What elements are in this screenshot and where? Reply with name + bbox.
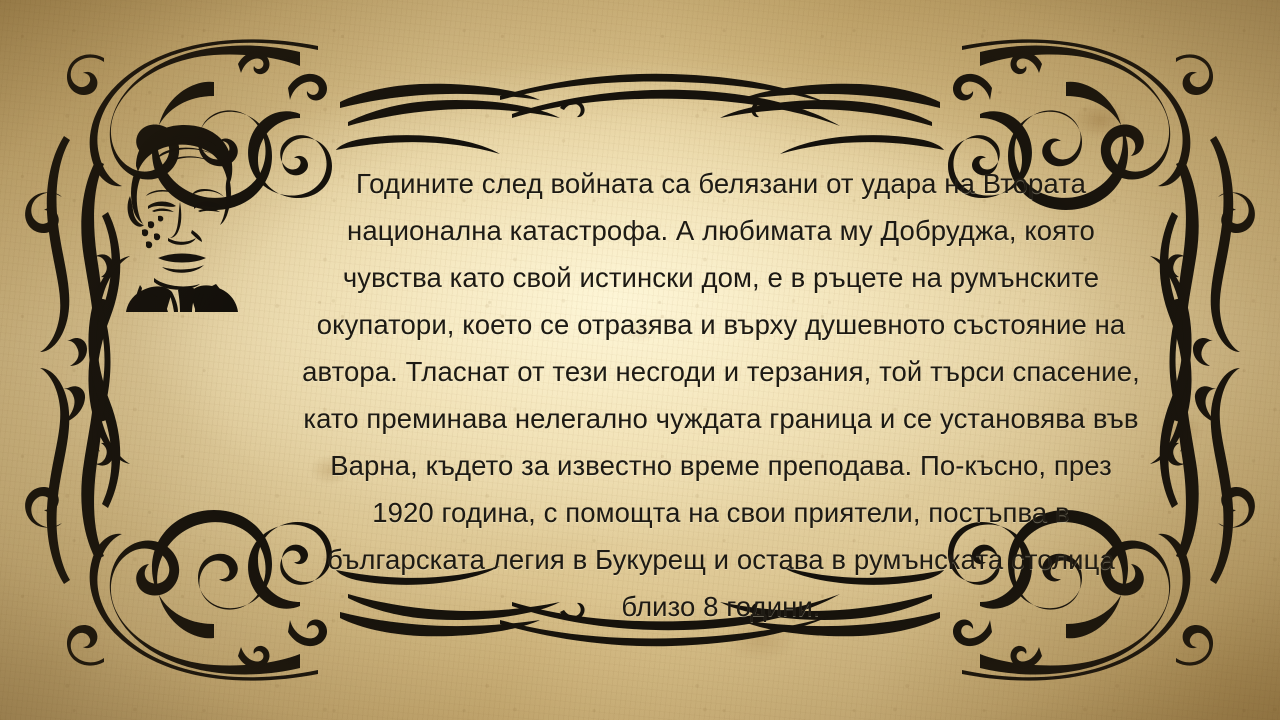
text-line: като преминава нелегално чуждата граница… (262, 395, 1180, 442)
text-line: близо 8 години. (262, 583, 1180, 630)
body-text: Годините след войната са белязани от уда… (262, 160, 1180, 630)
text-line: българската легия в Букурещ и остава в р… (262, 536, 1180, 583)
text-line: 1920 година, с помощта на свои приятели,… (262, 489, 1180, 536)
author-portrait (96, 112, 268, 312)
text-line: чувства като свой истински дом, е в ръце… (262, 254, 1180, 301)
text-line: автора. Тласнат от тези несгоди и терзан… (262, 348, 1180, 395)
slide-canvas: Годините след войната са белязани от уда… (0, 0, 1280, 720)
text-line: Варна, където за известно време преподав… (262, 442, 1180, 489)
text-line: национална катастрофа. А любимата му Доб… (262, 207, 1180, 254)
text-line: Годините след войната са белязани от уда… (262, 160, 1180, 207)
text-line: окупатори, което се отразява и върху душ… (262, 301, 1180, 348)
